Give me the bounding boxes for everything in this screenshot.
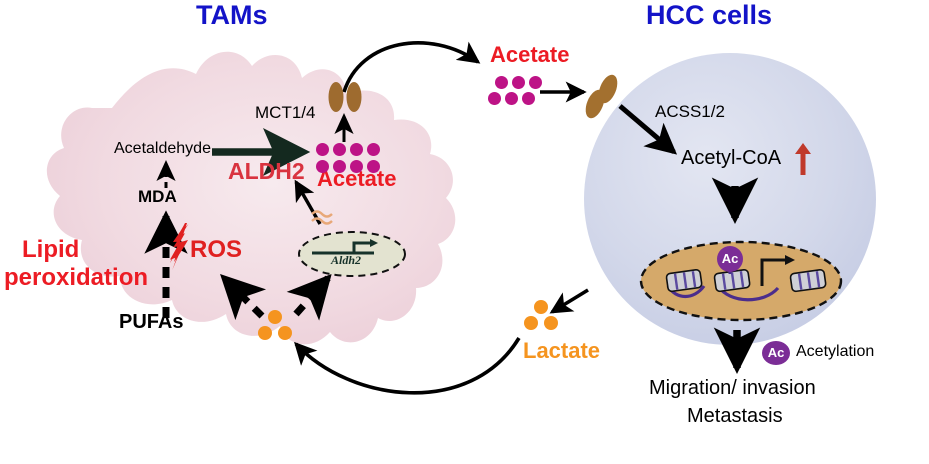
- legend-acetylation-label: Acetylation: [796, 344, 874, 360]
- label-pufas: PUFAs: [119, 312, 183, 332]
- label-aldh2-gene: Aldh2: [331, 254, 361, 266]
- title-hcc-cells: HCC cells: [646, 2, 772, 29]
- ros-lightning-icon: [168, 222, 194, 270]
- arrow-lactate-to-ros: [224, 278, 262, 316]
- lactate-dots-intracellular: [258, 310, 292, 342]
- mrna-squiggle-icon: [310, 208, 344, 228]
- pathway-figure: TAMs HCC cells Lipid peroxidation PUFAs …: [0, 0, 929, 464]
- label-acetate-extracellular: Acetate: [490, 44, 569, 66]
- acetate-dots-extracellular: [494, 76, 544, 108]
- label-lipid-peroxidation-line2: peroxidation: [4, 266, 148, 290]
- hcc-nucleus: [638, 238, 844, 324]
- label-outcome-metastasis: Metastasis: [687, 406, 783, 426]
- label-ros: ROS: [190, 238, 242, 262]
- acetate-dots-intracellular: [316, 143, 380, 173]
- arrow-acetate-export: [344, 43, 478, 92]
- label-aldh2-enzyme: ALDH2: [228, 160, 305, 183]
- arrow-lactate-return: [296, 338, 519, 393]
- histone-acetylation-badge: Ac: [717, 246, 743, 272]
- lactate-dots-extracellular: [524, 300, 558, 332]
- title-tams: TAMs: [196, 2, 268, 29]
- label-mda: MDA: [138, 188, 177, 205]
- nucleosome-icon: [666, 269, 702, 292]
- legend-ac-badge: Ac: [762, 341, 790, 365]
- mct-transporter-icon: [326, 78, 364, 116]
- tam-cell-body: [47, 52, 455, 345]
- hcc-transporter-icon: [580, 70, 626, 122]
- label-outcome-migration-invasion: Migration/ invasion: [649, 378, 816, 398]
- nucleosome-icon: [714, 269, 750, 292]
- label-lactate: Lactate: [523, 340, 600, 362]
- nucleosome-icon: [790, 269, 826, 292]
- label-acss1-2: ACSS1/2: [655, 103, 725, 120]
- label-lipid-peroxidation-line1: Lipid: [22, 238, 79, 262]
- label-mct1-4: MCT1/4: [255, 104, 315, 121]
- label-acetyl-coa: Acetyl-CoA: [681, 148, 781, 168]
- acetyl-coa-increase-arrow-icon: [794, 142, 812, 176]
- label-acetaldehyde: Acetaldehyde: [114, 141, 211, 157]
- arrow-lactate-to-gene: [296, 278, 328, 314]
